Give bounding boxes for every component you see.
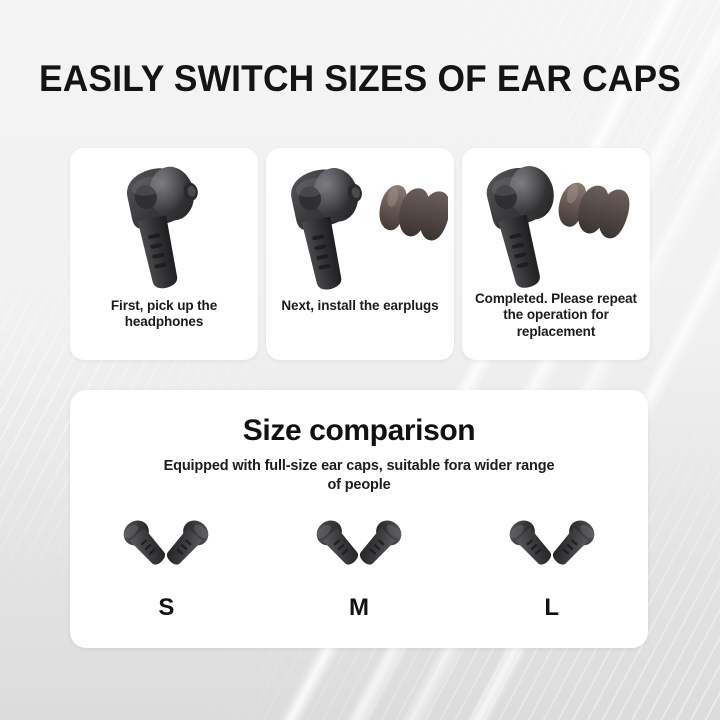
- earbud-pair-small-icon: [106, 502, 226, 586]
- earbud-with-detached-eartip-icon: [266, 148, 454, 300]
- size-comparison-panel: Size comparison Equipped with full-size …: [70, 390, 648, 648]
- step-card-1: First, pick up the headphones: [70, 148, 258, 360]
- step-card-3-caption: Completed. Please repeat the operation f…: [462, 291, 650, 340]
- size-label-s: S: [158, 594, 174, 622]
- size-option-l[interactable]: L: [455, 502, 648, 622]
- size-option-s[interactable]: S: [70, 502, 263, 622]
- step-card-3: Completed. Please repeat the operation f…: [462, 148, 650, 360]
- earbud-with-attached-eartip-icon: [462, 148, 650, 300]
- size-options-row: S: [70, 502, 648, 622]
- size-option-m[interactable]: M: [263, 502, 456, 622]
- step-card-list: First, pick up the headphones: [70, 148, 650, 360]
- page-title: EASILY SWITCH SIZES OF EAR CAPS: [16, 58, 704, 100]
- step-card-1-caption: First, pick up the headphones: [70, 298, 258, 331]
- size-panel-subheading: Equipped with full-size ear caps, suitab…: [159, 457, 559, 495]
- earbud-pair-large-icon: [492, 502, 612, 586]
- infographic-page: EASILY SWITCH SIZES OF EAR CAPS: [0, 0, 720, 720]
- earbud-pair-medium-icon: [299, 502, 419, 586]
- size-label-l: L: [544, 594, 559, 622]
- size-label-m: M: [349, 594, 369, 622]
- earbud-only-icon: [70, 148, 258, 300]
- step-card-2-caption: Next, install the earplugs: [266, 298, 454, 314]
- size-panel-heading: Size comparison: [70, 414, 648, 448]
- step-card-2: Next, install the earplugs: [266, 148, 454, 360]
